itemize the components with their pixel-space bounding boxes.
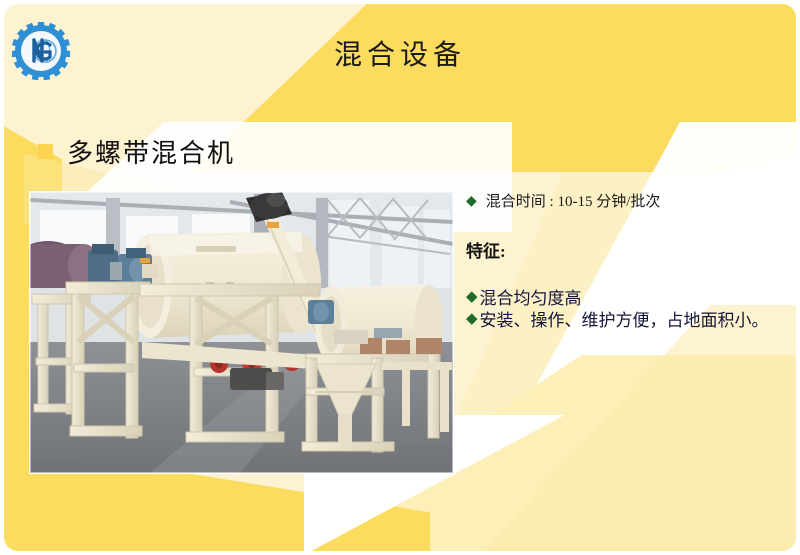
mix-time-line: ◆ 混合时间 : 10-15 分钟/批次 (466, 193, 788, 213)
features-heading: 特征: (466, 237, 788, 262)
slide-canvas: 混合设备 多螺带混合机 (0, 0, 800, 555)
multi-ribbon-mixer-photo (30, 192, 453, 473)
features-list: ◆ 混合均匀度高 ◆ 安装、操作、维护方便，占地面积小。 (466, 288, 788, 334)
feature-text: 安装、操作、维护方便，占地面积小。 (480, 310, 769, 333)
spec-text-panel: ◆ 混合时间 : 10-15 分钟/批次 特征: ◆ 混合均匀度高 ◆ 安装、操… (466, 193, 788, 333)
diamond-bullet-icon: ◆ (466, 310, 478, 328)
mix-time-text: 混合时间 : 10-15 分钟/批次 (486, 193, 661, 213)
section-heading: 多螺带混合机 (38, 133, 235, 170)
list-item: ◆ 安装、操作、维护方便，占地面积小。 (466, 310, 788, 333)
diamond-bullet-icon: ◆ (466, 288, 478, 306)
feature-text: 混合均匀度高 (480, 288, 582, 311)
square-bullet-icon (38, 144, 53, 159)
page-title: 混合设备 (0, 33, 800, 73)
section-heading-label: 多螺带混合机 (67, 133, 235, 170)
factory-photo-illustration (30, 192, 453, 473)
diamond-bullet-icon: ◆ (466, 193, 477, 211)
list-item: ◆ 混合均匀度高 (466, 288, 788, 311)
